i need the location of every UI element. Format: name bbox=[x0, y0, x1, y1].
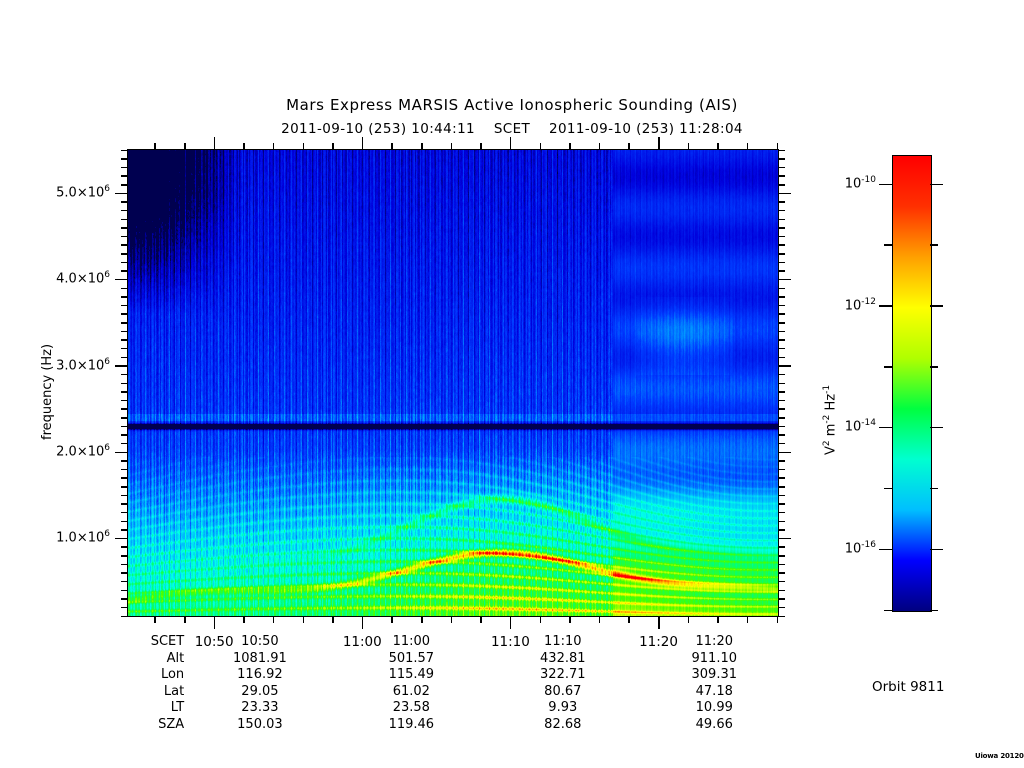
y-axis-minor-tick bbox=[121, 175, 128, 177]
spectrogram-plot-area[interactable] bbox=[128, 150, 778, 616]
y-axis-inner-tick bbox=[778, 452, 791, 454]
y-axis-inner-tick bbox=[778, 270, 785, 272]
orbit-label: Orbit 9811 bbox=[872, 679, 944, 695]
x-axis-minor-tick bbox=[569, 616, 571, 623]
time-range-subtitle: 2011-09-10 (253) 10:44:11 SCET 2011-09-1… bbox=[0, 121, 1024, 137]
y-axis-inner-tick bbox=[778, 357, 785, 359]
y-axis-minor-tick bbox=[121, 322, 128, 324]
y-axis-minor-tick bbox=[121, 581, 128, 583]
colorbar-gradient bbox=[893, 156, 931, 611]
x-axis-minor-tick bbox=[303, 616, 305, 623]
x-axis-top-tick bbox=[332, 143, 334, 150]
y-axis-inner-tick bbox=[778, 201, 785, 203]
x-axis-major-tick bbox=[362, 616, 364, 629]
ephemeris-row: Lat29.0561.0280.6747.18 bbox=[0, 684, 790, 701]
y-axis-inner-tick bbox=[778, 486, 785, 488]
y-axis-minor-tick bbox=[121, 167, 128, 169]
y-axis-inner-tick bbox=[778, 581, 785, 583]
x-axis-top-tick bbox=[421, 143, 423, 150]
y-axis-minor-tick bbox=[121, 417, 128, 419]
x-axis-major-tick bbox=[214, 616, 216, 629]
y-axis-minor-tick bbox=[121, 616, 128, 618]
y-axis-minor-tick bbox=[121, 158, 128, 160]
y-axis-inner-tick bbox=[778, 555, 785, 557]
colorbar[interactable] bbox=[893, 156, 931, 611]
y-axis-inner-tick bbox=[778, 374, 785, 376]
y-axis-inner-tick bbox=[778, 296, 785, 298]
y-axis-inner-tick bbox=[778, 434, 785, 436]
y-axis-minor-tick bbox=[121, 555, 128, 557]
y-axis-inner-tick bbox=[778, 426, 785, 428]
ephemeris-row-label: Alt bbox=[0, 651, 184, 668]
ephemeris-value: 115.49 bbox=[336, 667, 487, 684]
y-axis-minor-tick bbox=[121, 227, 128, 229]
y-axis-major-tick bbox=[115, 279, 128, 281]
ephemeris-row-label: SCET bbox=[0, 634, 184, 651]
x-axis-top-tick bbox=[243, 143, 245, 150]
x-axis-minor-tick bbox=[628, 616, 630, 623]
x-axis-top-tick bbox=[717, 143, 719, 150]
x-axis-top-tick bbox=[303, 143, 305, 150]
colorbar-tick-label: 10-16 bbox=[796, 540, 876, 556]
y-axis-minor-tick bbox=[121, 598, 128, 600]
x-axis-top-tick bbox=[540, 143, 542, 150]
y-axis-minor-tick bbox=[121, 219, 128, 221]
colorbar-inner-tick bbox=[930, 488, 938, 490]
y-axis-inner-tick bbox=[778, 469, 785, 471]
y-axis-minor-tick bbox=[121, 210, 128, 212]
y-axis-minor-tick bbox=[121, 408, 128, 410]
y-axis-inner-tick bbox=[778, 305, 785, 307]
ephemeris-value: 501.57 bbox=[336, 651, 487, 668]
ephemeris-value: 61.02 bbox=[336, 684, 487, 701]
x-axis-minor-tick bbox=[154, 616, 156, 623]
y-axis-minor-tick bbox=[121, 590, 128, 592]
ephemeris-row-label: SZA bbox=[0, 717, 184, 734]
y-axis-minor-tick bbox=[121, 469, 128, 471]
y-axis-minor-tick bbox=[121, 503, 128, 505]
y-axis-inner-tick bbox=[778, 253, 785, 255]
colorbar-tick-label: 10-10 bbox=[796, 175, 876, 191]
y-axis-minor-tick bbox=[121, 331, 128, 333]
x-axis-minor-tick bbox=[451, 616, 453, 623]
x-axis-minor-tick bbox=[243, 616, 245, 623]
colorbar-inner-tick bbox=[930, 610, 938, 612]
y-axis-minor-tick bbox=[121, 434, 128, 436]
y-axis-label: frequency (Hz) bbox=[40, 344, 55, 440]
y-axis-inner-tick bbox=[778, 572, 785, 574]
y-axis-minor-tick bbox=[121, 288, 128, 290]
y-axis-minor-tick bbox=[121, 313, 128, 315]
y-axis-minor-tick bbox=[121, 253, 128, 255]
x-axis-minor-tick bbox=[332, 616, 334, 623]
y-axis-inner-tick bbox=[778, 236, 785, 238]
y-axis-inner-tick bbox=[778, 616, 785, 618]
ephemeris-value: 11:20 bbox=[639, 634, 791, 651]
x-axis-minor-tick bbox=[599, 616, 601, 623]
ephemeris-value: 150.03 bbox=[184, 717, 335, 734]
x-axis-minor-tick bbox=[717, 616, 719, 623]
y-axis-inner-tick bbox=[778, 331, 785, 333]
y-axis-inner-tick bbox=[778, 391, 785, 393]
colorbar-inner-tick bbox=[930, 549, 943, 551]
y-axis-inner-tick bbox=[778, 408, 785, 410]
x-axis-top-tick bbox=[480, 143, 482, 150]
colorbar-minor-tick bbox=[884, 610, 892, 612]
y-axis-minor-tick bbox=[121, 564, 128, 566]
colorbar-minor-tick bbox=[884, 244, 892, 246]
y-axis-minor-tick bbox=[121, 529, 128, 531]
y-axis-minor-tick bbox=[121, 426, 128, 428]
ephemeris-value: 432.81 bbox=[487, 651, 638, 668]
colorbar-major-tick bbox=[879, 549, 892, 551]
x-axis-minor-tick bbox=[688, 616, 690, 623]
y-axis-inner-tick bbox=[778, 365, 791, 367]
y-axis-inner-tick bbox=[778, 219, 785, 221]
x-axis-minor-tick bbox=[184, 616, 186, 623]
x-axis-top-tick bbox=[214, 137, 216, 150]
ephemeris-value: 10.99 bbox=[639, 700, 791, 717]
x-axis-top-tick bbox=[569, 143, 571, 150]
y-axis-minor-tick bbox=[121, 184, 128, 186]
x-axis-top-tick bbox=[362, 137, 364, 150]
y-axis-minor-tick bbox=[121, 262, 128, 264]
y-axis-inner-tick bbox=[778, 503, 785, 505]
ephemeris-row: Lon116.92115.49322.71309.31 bbox=[0, 667, 790, 684]
y-axis-tick-label: 5.0×106 bbox=[10, 184, 110, 200]
y-axis-minor-tick bbox=[121, 443, 128, 445]
x-axis-top-tick bbox=[688, 143, 690, 150]
y-axis-inner-tick bbox=[778, 175, 785, 177]
y-axis-inner-tick bbox=[778, 313, 785, 315]
colorbar-inner-tick bbox=[930, 305, 943, 307]
y-axis-minor-tick bbox=[121, 391, 128, 393]
ephemeris-row: LT23.3323.589.9310.99 bbox=[0, 700, 790, 717]
y-axis-tick-label: 1.0×106 bbox=[10, 529, 110, 545]
x-axis-minor-tick bbox=[273, 616, 275, 623]
colorbar-inner-tick bbox=[930, 427, 943, 429]
ephemeris-row-label: Lon bbox=[0, 667, 184, 684]
ephemeris-value: 1081.91 bbox=[184, 651, 335, 668]
ephemeris-row: SZA150.03119.4682.6849.66 bbox=[0, 717, 790, 734]
ephemeris-value: 119.46 bbox=[336, 717, 487, 734]
y-axis-inner-tick bbox=[778, 167, 785, 169]
x-axis-minor-tick bbox=[480, 616, 482, 623]
x-axis-top-tick bbox=[747, 143, 749, 150]
y-axis-minor-tick bbox=[121, 374, 128, 376]
y-axis-inner-tick bbox=[778, 477, 785, 479]
y-axis-inner-tick bbox=[778, 521, 785, 523]
y-axis-inner-tick bbox=[778, 244, 785, 246]
y-axis-minor-tick bbox=[121, 357, 128, 359]
x-axis-major-tick bbox=[510, 616, 512, 629]
y-axis-minor-tick bbox=[121, 460, 128, 462]
ephemeris-value: 47.18 bbox=[639, 684, 791, 701]
ephemeris-value: 11:00 bbox=[336, 634, 487, 651]
y-axis-inner-tick bbox=[778, 495, 785, 497]
x-axis-top-tick bbox=[658, 137, 660, 150]
y-axis-inner-tick bbox=[778, 210, 785, 212]
ephemeris-row-label: LT bbox=[0, 700, 184, 717]
y-axis-inner-tick bbox=[778, 339, 785, 341]
y-axis-tick-label: 4.0×106 bbox=[10, 270, 110, 286]
ephemeris-value: 23.33 bbox=[184, 700, 335, 717]
y-axis-inner-tick bbox=[778, 279, 791, 281]
y-axis-inner-tick bbox=[778, 193, 791, 195]
colorbar-minor-tick bbox=[884, 366, 892, 368]
y-axis-inner-tick bbox=[778, 512, 785, 514]
ephemeris-value: 116.92 bbox=[184, 667, 335, 684]
y-axis-major-tick bbox=[115, 538, 128, 540]
y-axis-tick-label: 3.0×106 bbox=[10, 357, 110, 373]
ephemeris-value: 309.31 bbox=[639, 667, 791, 684]
y-axis-minor-tick bbox=[121, 400, 128, 402]
y-axis-tick-label: 2.0×106 bbox=[10, 443, 110, 459]
y-axis-minor-tick bbox=[121, 607, 128, 609]
x-axis-top-tick bbox=[391, 143, 393, 150]
ephemeris-grid: SCET10:5011:0011:1011:20Alt1081.91501.57… bbox=[0, 634, 790, 734]
x-axis-minor-tick bbox=[421, 616, 423, 623]
colorbar-label: V2 m-2 Hz-1 bbox=[822, 385, 838, 455]
ephemeris-value: 49.66 bbox=[639, 717, 791, 734]
y-axis-inner-tick bbox=[778, 383, 785, 385]
y-axis-inner-tick bbox=[778, 322, 785, 324]
ephemeris-value: 82.68 bbox=[487, 717, 638, 734]
colorbar-major-tick bbox=[879, 427, 892, 429]
x-axis-minor-tick bbox=[777, 616, 779, 623]
y-axis-minor-tick bbox=[121, 150, 128, 152]
y-axis-major-tick bbox=[115, 193, 128, 195]
x-axis-top-tick bbox=[154, 143, 156, 150]
colorbar-tick-label: 10-12 bbox=[796, 297, 876, 313]
y-axis-minor-tick bbox=[121, 546, 128, 548]
ephemeris-row: Alt1081.91501.57432.81911.10 bbox=[0, 651, 790, 668]
y-axis-minor-tick bbox=[121, 244, 128, 246]
y-axis-minor-tick bbox=[121, 236, 128, 238]
x-axis-minor-tick bbox=[747, 616, 749, 623]
y-axis-minor-tick bbox=[121, 572, 128, 574]
ephemeris-row: SCET10:5011:0011:1011:20 bbox=[0, 634, 790, 651]
x-axis-top-tick bbox=[451, 143, 453, 150]
ephemeris-value: 10:50 bbox=[184, 634, 335, 651]
y-axis-minor-tick bbox=[121, 201, 128, 203]
watermark: Uiowa 20120406 bbox=[975, 752, 1024, 760]
y-axis-inner-tick bbox=[778, 443, 785, 445]
y-axis-minor-tick bbox=[121, 383, 128, 385]
y-axis-minor-tick bbox=[121, 305, 128, 307]
y-axis-inner-tick bbox=[778, 158, 785, 160]
colorbar-minor-tick bbox=[884, 488, 892, 490]
y-axis-major-tick bbox=[115, 365, 128, 367]
y-axis-minor-tick bbox=[121, 296, 128, 298]
y-axis-inner-tick bbox=[778, 150, 785, 152]
spectrogram-canvas[interactable] bbox=[128, 150, 778, 616]
y-axis-inner-tick bbox=[778, 529, 785, 531]
y-axis-inner-tick bbox=[778, 460, 785, 462]
y-axis-minor-tick bbox=[121, 512, 128, 514]
y-axis-inner-tick bbox=[778, 288, 785, 290]
y-axis-minor-tick bbox=[121, 270, 128, 272]
y-axis-inner-tick bbox=[778, 590, 785, 592]
ephemeris-table: SCET10:5011:0011:1011:20Alt1081.91501.57… bbox=[0, 634, 800, 734]
x-axis-top-tick bbox=[628, 143, 630, 150]
y-axis-inner-tick bbox=[778, 546, 785, 548]
y-axis-inner-tick bbox=[778, 184, 785, 186]
x-axis-top-tick bbox=[273, 143, 275, 150]
ephemeris-value: 11:10 bbox=[487, 634, 638, 651]
x-axis-major-tick bbox=[658, 616, 660, 629]
x-axis-top-tick bbox=[777, 143, 779, 150]
ephemeris-value: 911.10 bbox=[639, 651, 791, 668]
y-axis-inner-tick bbox=[778, 607, 785, 609]
colorbar-inner-tick bbox=[930, 366, 938, 368]
ephemeris-value: 23.58 bbox=[336, 700, 487, 717]
y-axis-minor-tick bbox=[121, 348, 128, 350]
ephemeris-value: 29.05 bbox=[184, 684, 335, 701]
colorbar-major-tick bbox=[879, 184, 892, 186]
y-axis-major-tick bbox=[115, 452, 128, 454]
y-axis-minor-tick bbox=[121, 339, 128, 341]
x-axis-top-tick bbox=[184, 143, 186, 150]
y-axis-minor-tick bbox=[121, 486, 128, 488]
x-axis-top-tick bbox=[510, 137, 512, 150]
y-axis-minor-tick bbox=[121, 521, 128, 523]
ephemeris-value: 9.93 bbox=[487, 700, 638, 717]
y-axis-inner-tick bbox=[778, 417, 785, 419]
y-axis-inner-tick bbox=[778, 400, 785, 402]
y-axis-minor-tick bbox=[121, 477, 128, 479]
y-axis-minor-tick bbox=[121, 495, 128, 497]
ephemeris-value: 80.67 bbox=[487, 684, 638, 701]
colorbar-inner-tick bbox=[930, 184, 943, 186]
y-axis-inner-tick bbox=[778, 598, 785, 600]
x-axis-minor-tick bbox=[391, 616, 393, 623]
y-axis-inner-tick bbox=[778, 564, 785, 566]
y-axis-inner-tick bbox=[778, 227, 785, 229]
ephemeris-value: 322.71 bbox=[487, 667, 638, 684]
x-axis-top-tick bbox=[599, 143, 601, 150]
x-axis-minor-tick bbox=[540, 616, 542, 623]
colorbar-inner-tick bbox=[930, 244, 938, 246]
y-axis-inner-tick bbox=[778, 262, 785, 264]
colorbar-major-tick bbox=[879, 305, 892, 307]
page-title: Mars Express MARSIS Active Ionospheric S… bbox=[0, 96, 1024, 114]
y-axis-inner-tick bbox=[778, 348, 785, 350]
ephemeris-row-label: Lat bbox=[0, 684, 184, 701]
y-axis-inner-tick bbox=[778, 538, 791, 540]
